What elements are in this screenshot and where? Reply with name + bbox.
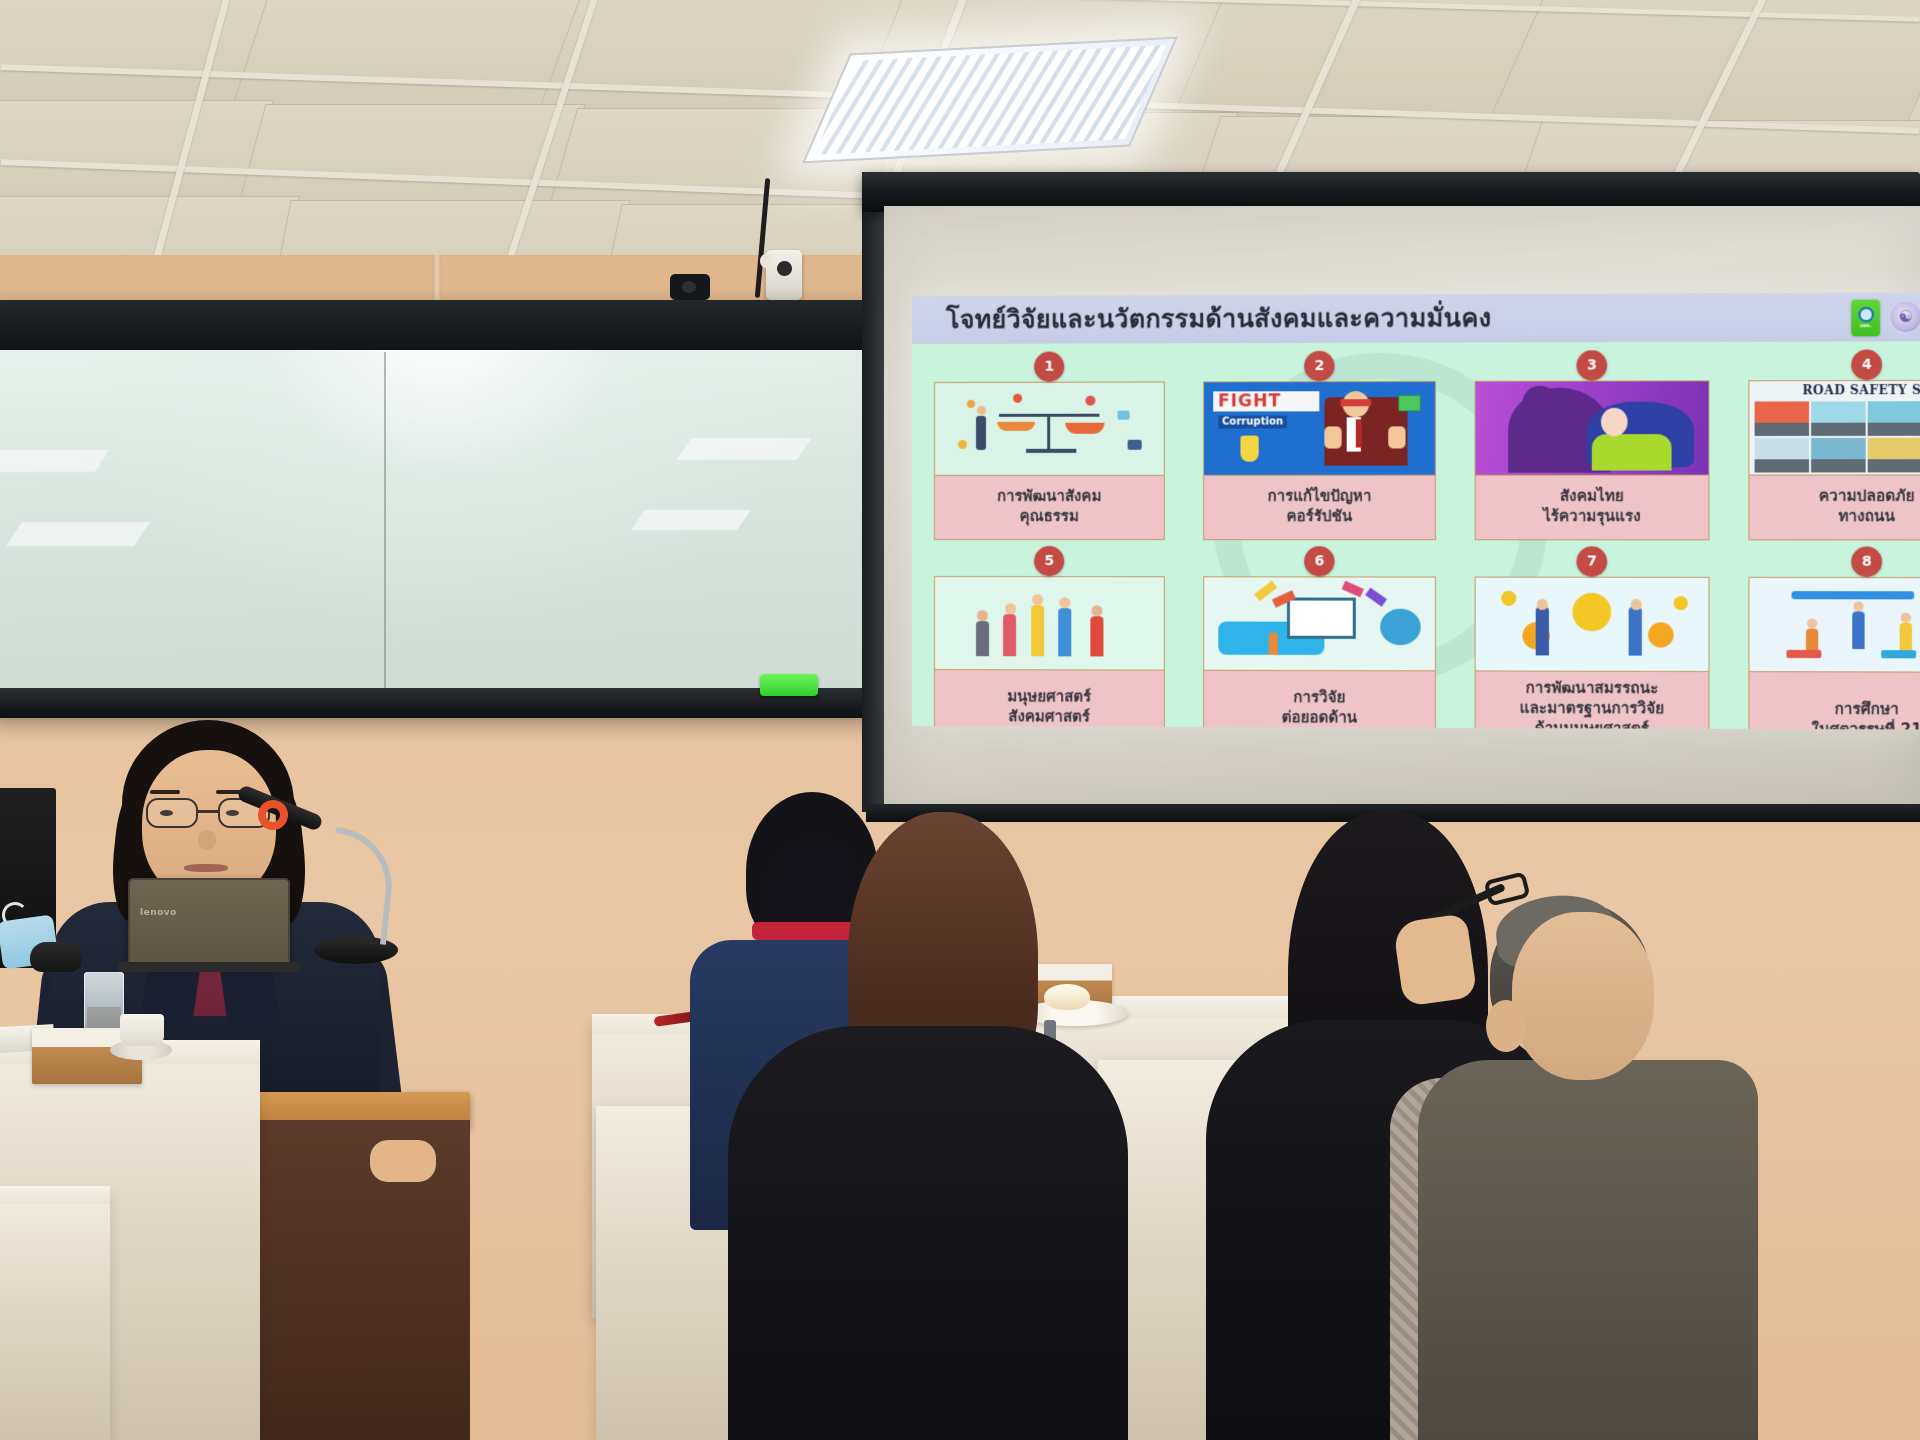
topic-card-slot: 3 สังคมไทย ไร้ความรุนแรง [1475,350,1710,540]
slide-title-bar: โจทย์วิจัยและนวัตกรรมด้านสังคมและความมั่… [912,292,1920,344]
topic-card[interactable]: การศึกษา ในศตวรรษที่ 21 [1748,577,1920,730]
card-number-badge: 1 [1034,352,1064,382]
dessert [1044,984,1090,1010]
pmu-logo-caption: บพค. [1860,324,1872,330]
card-image [1204,577,1435,670]
laptop[interactable]: lenovo [128,878,290,966]
card-label-line: ด้านมนุษยศาสตร์ [1480,718,1705,729]
slide-body: 1 [912,341,1920,729]
topic-card[interactable]: ROAD SAFETY SE [1748,380,1920,541]
topic-card-slot: 2 FIGHT Corruption [1203,351,1436,541]
poster-subhead: Corruption [1218,416,1287,429]
topic-card-slot: 8 [1748,546,1920,729]
collage-title: ROAD SAFETY SE [1759,383,1920,398]
topic-card-slot: 7 [1475,546,1710,729]
gears-teamwork-illustration-icon [1476,578,1709,671]
presenter-right-hand [370,1140,436,1182]
topic-card[interactable]: สังคมไทย ไร้ความรุนแรง [1475,380,1710,540]
card-label: สังคมไทย ไร้ความรุนแรง [1476,475,1709,540]
circular-hands-logo-icon: ☯ [1888,300,1920,335]
card-number-badge: 3 [1577,350,1608,380]
topic-card-grid: 1 [934,349,1920,729]
wall-camera-icon [766,250,802,300]
attendee-hand [1393,913,1478,1006]
computer-mouse[interactable] [30,942,82,972]
card-label-line: สังคมศาสตร์ [939,707,1160,728]
card-label-line: การพัฒนาสมรรถนะ [1480,679,1705,700]
card-label-line: การศึกษา [1754,699,1920,720]
front-left-table-2-top [0,1186,110,1204]
conference-room-scene: โจทย์วิจัยและนวัตกรรมด้านสังคมและความมั่… [0,0,1920,1440]
card-label: การแก้ไขปัญหา คอร์รัปชัน [1204,475,1435,540]
pmu-green-logo-icon: บพค. [1851,300,1880,337]
card-label: การพัฒนาสมรรถนะ และมาตรฐานการวิจัย ด้านม… [1476,670,1709,729]
road-safety-collage-icon: ROAD SAFETY SE [1749,381,1920,475]
card-image [935,382,1164,475]
card-label-line: คอร์รัปชัน [1208,506,1431,526]
card-label: การพัฒนาสังคม คุณธรรม [935,475,1164,539]
attendee-elderly-man-head [1512,912,1654,1080]
card-label-line: การพัฒนาสังคม [939,487,1160,507]
topic-card[interactable]: มนุษยศาสตร์ สังคมศาสตร์ ศิลปกรรมศาสตร์ [934,576,1165,730]
education-students-illustration-icon [1749,578,1920,672]
card-label: การวิจัย ต่อยอดด้าน ศิลปกรรมศาสตร์ [1204,670,1435,730]
front-left-table-2 [0,1190,110,1440]
card-label-line: คุณธรรม [939,506,1160,526]
topic-card-slot: 6 [1203,546,1436,729]
violence-silhouette-illustration-icon [1476,381,1709,474]
card-label-line: ไร้ความรุนแรง [1480,506,1705,526]
whiteboard [0,300,898,718]
card-label-line: การวิจัย [1208,688,1431,709]
card-label: การศึกษา ในศตวรรษที่ 21 [1749,671,1920,729]
card-label-line: ทางถนน [1754,506,1920,526]
laptop-brand-label: lenovo [140,908,177,918]
attendee-elderly-man-body [1418,1060,1758,1440]
card-number-badge: 5 [1034,546,1064,576]
card-label-line: และมาตรฐานการวิจัย [1480,698,1705,719]
justice-scale-illustration-icon [935,382,1164,475]
card-image [935,577,1164,670]
poster-headline: FIGHT [1218,391,1281,411]
card-number-badge: 7 [1577,546,1608,576]
card-image [1476,381,1709,474]
green-eraser[interactable] [760,674,818,696]
slide-logos: บพค. ☯ [1851,300,1920,337]
topic-card[interactable]: การพัฒนาสมรรถนะ และมาตรฐานการวิจัย ด้านม… [1475,577,1710,730]
topic-card[interactable]: การพัฒนาสังคม คุณธรรม [934,381,1165,540]
card-image [1476,578,1709,671]
fight-corruption-poster-icon: FIGHT Corruption [1204,382,1435,475]
ceiling-light-panel [802,37,1178,164]
card-label-line: การแก้ไขปัญหา [1208,487,1431,507]
card-image [1749,578,1920,672]
art-easel-palette-illustration-icon [1204,577,1435,670]
card-image: FIGHT Corruption [1204,382,1435,475]
card-label-line: ต่อยอดด้าน [1208,708,1431,729]
card-label-line: ในศตวรรษที่ 21 [1754,719,1920,729]
card-number-badge: 6 [1304,546,1334,576]
card-number-badge: 2 [1304,351,1334,381]
attendee-black-blazer-body [728,1026,1128,1440]
card-label: มนุษยศาสตร์ สังคมศาสตร์ ศิลปกรรมศาสตร์ [935,669,1164,729]
coffee-cup[interactable] [120,1014,164,1046]
water-glass[interactable] [84,972,124,1034]
topic-card[interactable]: FIGHT Corruption การแก้ไขปัญหา [1203,381,1436,540]
celebrating-people-illustration-icon [935,577,1164,670]
topic-card[interactable]: การวิจัย ต่อยอดด้าน ศิลปกรรมศาสตร์ [1203,576,1436,729]
card-label-line: สังคมไทย [1480,486,1705,506]
presentation-slide: โจทย์วิจัยและนวัตกรรมด้านสังคมและความมั่… [912,292,1920,729]
card-image: ROAD SAFETY SE [1749,381,1920,475]
laptop-base [118,962,300,972]
screen-side-rail [862,172,884,812]
card-number-badge: 4 [1851,350,1882,381]
card-label: ความปลอดภัย ทางถนน [1749,474,1920,539]
card-label-line: มนุษยศาสตร์ [939,687,1160,707]
topic-card-slot: 4 ROAD SAFETY SE [1748,349,1920,540]
card-number-badge: 8 [1851,547,1882,577]
whiteboard-mount-camera-icon [670,274,710,300]
topic-card-slot: 5 [934,546,1165,730]
card-label-line: ความปลอดภัย [1754,486,1920,506]
slide-title: โจทย์วิจัยและนวัตกรรมด้านสังคมและความมั่… [946,298,1491,340]
topic-card-slot: 1 [934,351,1165,540]
